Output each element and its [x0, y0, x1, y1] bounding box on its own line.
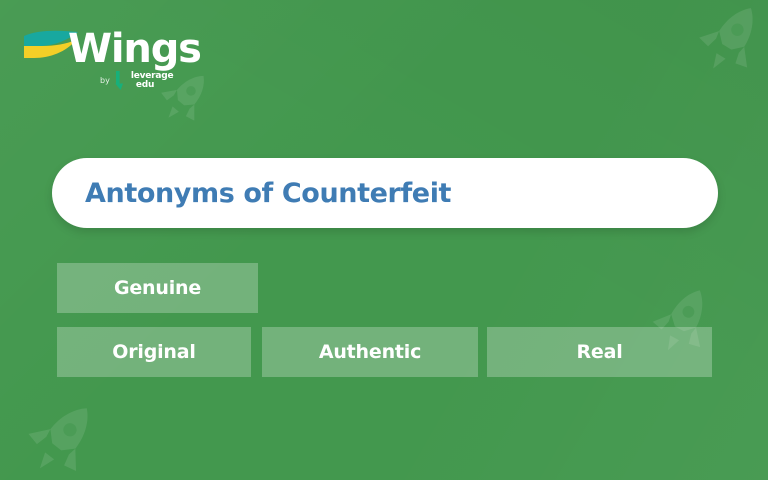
logo-subline: by leverage edu: [100, 70, 173, 92]
answer-chip-label: Original: [112, 341, 195, 363]
page-title: Antonyms of Counterfeit: [85, 178, 451, 209]
answer-chip-genuine[interactable]: Genuine: [57, 263, 258, 313]
leverage-edu-line2: edu: [136, 81, 174, 90]
logo-wordmark: Wings: [68, 26, 201, 72]
answer-chip-label: Genuine: [114, 277, 201, 299]
answer-chip-authentic[interactable]: Authentic: [262, 327, 478, 377]
answer-chip-original[interactable]: Original: [57, 327, 251, 377]
leverage-edu-arrow-icon: [114, 71, 127, 91]
title-card: Antonyms of Counterfeit: [52, 158, 718, 228]
rocket-icon: [688, 0, 768, 86]
leverage-edu-wordmark: leverage edu: [131, 72, 174, 90]
answer-chip-label: Authentic: [319, 341, 421, 363]
answer-chip-real[interactable]: Real: [487, 327, 712, 377]
slide-canvas: Wings by leverage edu Antonyms of Counte…: [0, 0, 768, 480]
rocket-icon: [16, 392, 108, 480]
brand-logo: Wings by leverage edu: [22, 26, 202, 98]
answer-chip-label: Real: [576, 341, 622, 363]
logo-by-label: by: [100, 76, 110, 86]
